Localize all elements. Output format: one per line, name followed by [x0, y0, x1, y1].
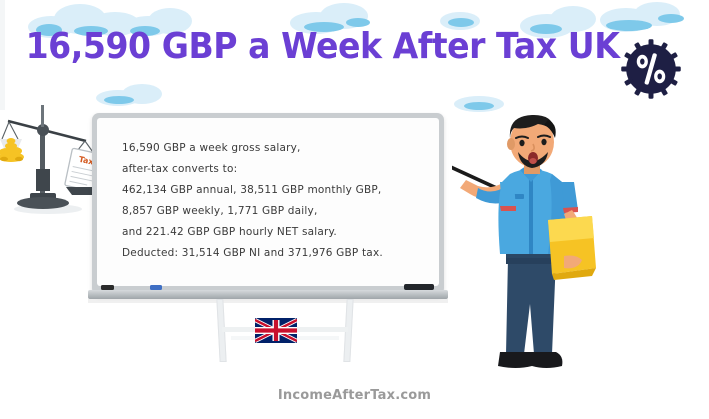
black-marker-icon [101, 285, 114, 290]
whiteboard-line-5: and 221.42 GBP GBP hourly NET salary. [122, 222, 423, 243]
page-title: 16,590 GBP a Week After Tax UK [26, 26, 615, 67]
whiteboard-line-4: 8,857 GBP weekly, 1,771 GBP daily, [122, 201, 423, 222]
percent-badge-icon [620, 38, 682, 100]
whiteboard-text: 16,590 GBP a week gross salary, after-ta… [122, 138, 423, 264]
eraser-icon [404, 284, 434, 290]
whiteboard-line-1: 16,590 GBP a week gross salary, [122, 138, 423, 159]
uk-flag-icon [255, 318, 297, 343]
whiteboard-tray [88, 290, 448, 299]
whiteboard-line-3: 462,134 GBP annual, 38,511 GBP monthly G… [122, 180, 423, 201]
whiteboard: 16,590 GBP a week gross salary, after-ta… [92, 113, 444, 295]
tray-shadow [88, 299, 448, 303]
blue-marker-icon [150, 285, 162, 290]
teacher-illustration [452, 108, 642, 376]
yellow-folder [548, 216, 596, 280]
site-footer: IncomeAfterTax.com [0, 388, 709, 403]
whiteboard-line-6: Deducted: 31,514 GBP NI and 371,976 GBP … [122, 243, 423, 264]
whiteboard-surface: 16,590 GBP a week gross salary, after-ta… [97, 118, 439, 286]
poster-canvas: 16,590 GBP a Week After Tax UK [0, 0, 709, 419]
whiteboard-line-2: after-tax converts to: [122, 159, 423, 180]
